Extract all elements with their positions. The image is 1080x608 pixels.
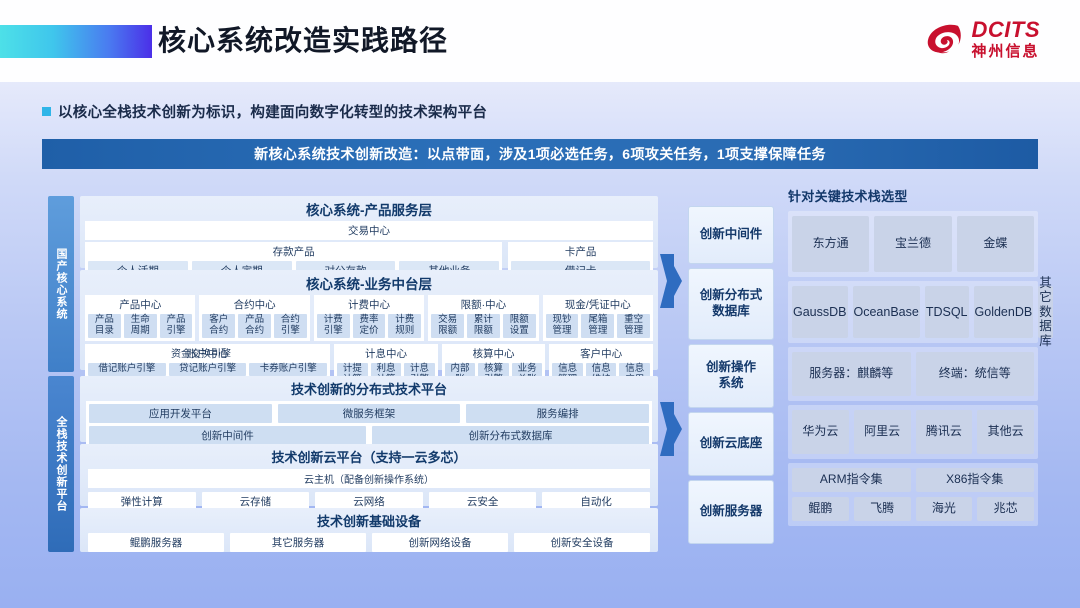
cloud-platform-title: 技术创新云平台（支持一云多芯） — [80, 444, 658, 469]
trade-center-bar: 交易中心 — [85, 221, 653, 240]
tech-stack-item[interactable]: OceanBase — [853, 286, 920, 338]
cloud-platform-block: 技术创新云平台（支持一云多芯） 云主机（配备创新操作系统） 弹性计算 云存储 云… — [80, 444, 658, 506]
left-architecture-panel: 国产核心系统 全栈技术创新平台 核心系统-产品服务层 交易中心 存款产品 个人活… — [48, 196, 658, 552]
blue-banner: 新核心系统技术创新改造：以点带面，涉及1项必选任务，6项攻关任务，1项支撑保障任… — [42, 139, 1038, 169]
tech-stack-item[interactable]: 海光 — [916, 497, 973, 521]
infra-item[interactable]: 创新网络设备 — [372, 533, 508, 552]
task-box-cloud-base[interactable]: 创新云底座 — [688, 412, 774, 476]
bm-cell[interactable]: 费率定价 — [353, 314, 386, 338]
bm-cell[interactable]: 重空管理 — [617, 314, 650, 338]
bm-cell[interactable]: 贷记账户引擎 — [169, 363, 247, 376]
product-service-layer-block: 核心系统-产品服务层 交易中心 存款产品 个人活期 个人定期 对公存款 其他业务… — [80, 196, 658, 268]
task-box-distributed-database[interactable]: 创新分布式数据库 — [688, 268, 774, 340]
product-group-title: 存款产品 — [88, 244, 499, 261]
tech-stack-group-database: GaussDB OceanBase TDSQL GoldenDB 其它数据库 — [788, 281, 1038, 343]
tech-stack-item[interactable]: 飞腾 — [854, 497, 911, 521]
tech-stack-item[interactable]: 金蝶 — [957, 216, 1034, 272]
bullet-square-icon — [42, 107, 51, 116]
tech-stack-item[interactable]: 其它数据库 — [1038, 286, 1053, 338]
tech-stack-item[interactable]: TDSQL — [925, 286, 969, 338]
side-label-core-system: 国产核心系统 — [48, 196, 74, 372]
tech-stack-item[interactable]: 宝兰德 — [874, 216, 951, 272]
bm-card-title: 客户中心 — [552, 346, 650, 363]
innovation-task-column: 创新中间件 创新分布式数据库 创新操作系统 创新云底座 创新服务器 — [688, 206, 774, 548]
bm-cell[interactable]: 交易限额 — [431, 314, 464, 338]
tech-stack-item[interactable]: 华为云 — [792, 410, 849, 454]
bm-cell[interactable]: 产品目录 — [88, 314, 121, 338]
dist-item[interactable]: 微服务框架 — [278, 404, 461, 423]
bm-cell[interactable]: 合约引擎 — [274, 314, 307, 338]
dcits-logo-mark — [923, 18, 965, 60]
dist-item[interactable]: 应用开发平台 — [89, 404, 272, 423]
bm-card-title: 现金/凭证中心 — [546, 297, 650, 314]
page-title: 核心系统改造实践路径 — [158, 22, 448, 60]
bm-cell[interactable]: 限额设置 — [503, 314, 536, 338]
tech-stack-item[interactable]: X86指令集 — [916, 468, 1035, 492]
dist-item[interactable]: 创新中间件 — [89, 426, 366, 445]
arrow-right-icon-bottom — [658, 400, 684, 458]
infra-item[interactable]: 鲲鹏服务器 — [88, 533, 224, 552]
side-label-tech-platform: 全栈技术创新平台 — [48, 376, 74, 552]
bm-cell[interactable]: 借记账户引擎 — [88, 363, 166, 376]
business-layer-title: 核心系统-业务中台层 — [80, 270, 658, 295]
page-header: 核心系统改造实践路径 DCITS 神州信息 — [0, 0, 1080, 82]
bm-card-limit-center: 限额·中心 交易限额 累计限额 限额设置 — [428, 295, 538, 341]
bm-cell[interactable]: 计费引擎 — [317, 314, 350, 338]
infra-item[interactable]: 其它服务器 — [230, 533, 366, 552]
tech-stack-group-cpu: ARM指令集 X86指令集 鲲鹏 飞腾 海光 兆芯 — [788, 463, 1038, 526]
infra-item[interactable]: 创新安全设备 — [514, 533, 650, 552]
dist-item[interactable]: 创新分布式数据库 — [372, 426, 649, 445]
bm-cell[interactable]: 生命周期 — [124, 314, 157, 338]
tech-stack-group-middleware: 东方通 宝兰德 金蝶 — [788, 211, 1038, 277]
task-box-operating-system[interactable]: 创新操作系统 — [688, 344, 774, 408]
bm-cell[interactable]: 现钞管理 — [546, 314, 579, 338]
bm-cell[interactable]: 计费规则 — [388, 314, 421, 338]
tech-stack-item[interactable]: 鲲鹏 — [792, 497, 849, 521]
tech-stack-item[interactable]: 其他云 — [977, 410, 1034, 454]
arrow-right-icon-top — [658, 252, 684, 310]
tech-stack-item[interactable]: 兆芯 — [977, 497, 1034, 521]
bm-cell[interactable]: 产品合约 — [238, 314, 271, 338]
dist-item[interactable]: 服务编排 — [466, 404, 649, 423]
dcits-logo: DCITS 神州信息 — [923, 18, 1041, 60]
infrastructure-block: 技术创新基础设备 鲲鹏服务器 其它服务器 创新网络设备 创新安全设备 — [80, 508, 658, 552]
bm-card-title: 合约中心 — [202, 297, 306, 314]
logo-text: DCITS 神州信息 — [972, 19, 1041, 59]
logo-english: DCITS — [972, 19, 1041, 41]
cloud-host-bar: 云主机（配备创新操作系统） — [88, 469, 650, 488]
bullet-headline: 以核心全栈技术创新为标识，构建面向数字化转型的技术架构平台 — [42, 101, 487, 122]
bm-card-title: 限额·中心 — [431, 297, 535, 314]
bm-card-contract-center: 合约中心 客户合约 产品合约 合约引擎 — [199, 295, 309, 341]
bm-card-title: 核算中心 — [445, 346, 543, 363]
infra-title: 技术创新基础设备 — [80, 508, 658, 533]
infra-items: 鲲鹏服务器 其它服务器 创新网络设备 创新安全设备 — [88, 533, 650, 552]
tech-stack-group-cloud: 华为云 阿里云 腾讯云 其他云 — [788, 405, 1038, 459]
bm-card-cash-voucher-center: 现金/凭证中心 现钞管理 尾箱管理 重空管理 — [543, 295, 653, 341]
bm-card-title: 产品中心 — [88, 297, 192, 314]
distributed-tech-platform-block: 技术创新的分布式技术平台 应用开发平台 微服务框架 服务编排 创新中间件 创新分… — [80, 376, 658, 442]
tech-stack-selection-column: 针对关键技术栈选型 东方通 宝兰德 金蝶 GaussDB OceanBase T… — [788, 186, 1038, 530]
product-group-title: 卡产品 — [511, 244, 650, 261]
tech-stack-group-os: 服务器：麒麟等 终端：统信等 — [788, 347, 1038, 401]
bm-card-title: 计费中心 — [317, 297, 421, 314]
tech-stack-title: 针对关键技术栈选型 — [788, 186, 1038, 205]
product-layer-title: 核心系统-产品服务层 — [80, 196, 658, 221]
bm-cell[interactable]: 产品引擎 — [160, 314, 193, 338]
logo-chinese: 神州信息 — [972, 44, 1041, 59]
task-box-middleware[interactable]: 创新中间件 — [688, 206, 774, 264]
tech-stack-item[interactable]: 服务器：麒麟等 — [792, 352, 911, 396]
tech-stack-item[interactable]: 东方通 — [792, 216, 869, 272]
bm-cell[interactable]: 尾箱管理 — [581, 314, 614, 338]
tech-stack-item[interactable]: 腾讯云 — [916, 410, 973, 454]
title-accent-bar — [0, 25, 152, 58]
bm-cell[interactable]: 客户合约 — [202, 314, 235, 338]
dist-platform-items: 应用开发平台 微服务框架 服务编排 创新中间件 创新分布式数据库 — [86, 401, 652, 448]
bm-cell[interactable]: 累计限额 — [467, 314, 500, 338]
task-box-server[interactable]: 创新服务器 — [688, 480, 774, 544]
bm-card-billing-center: 计费中心 计费引擎 费率定价 计费规则 — [314, 295, 424, 341]
tech-stack-item[interactable]: 阿里云 — [854, 410, 911, 454]
bullet-headline-text: 以核心全栈技术创新为标识，构建面向数字化转型的技术架构平台 — [58, 101, 487, 122]
bm-card-title: 计息中心 — [337, 346, 435, 363]
bm-card-title: 账户中心 — [88, 346, 327, 363]
bm-cell[interactable]: 卡券账户引擎 — [249, 363, 327, 376]
business-row-1: 产品中心 产品目录 生命周期 产品引擎 合约中心 客户合约 产品合约 合约引擎 … — [85, 295, 653, 341]
tech-stack-item[interactable]: GoldenDB — [974, 286, 1034, 338]
tech-stack-item[interactable]: ARM指令集 — [792, 468, 911, 492]
tech-stack-item[interactable]: GaussDB — [792, 286, 848, 338]
dist-platform-title: 技术创新的分布式技术平台 — [80, 376, 658, 401]
bm-card-product-center: 产品中心 产品目录 生命周期 产品引擎 — [85, 295, 195, 341]
banner-text: 新核心系统技术创新改造：以点带面，涉及1项必选任务，6项攻关任务，1项支撑保障任… — [254, 144, 826, 164]
business-middle-layer-block: 核心系统-业务中台层 产品中心 产品目录 生命周期 产品引擎 合约中心 客户合约… — [80, 270, 658, 370]
tech-stack-item[interactable]: 终端：统信等 — [916, 352, 1035, 396]
